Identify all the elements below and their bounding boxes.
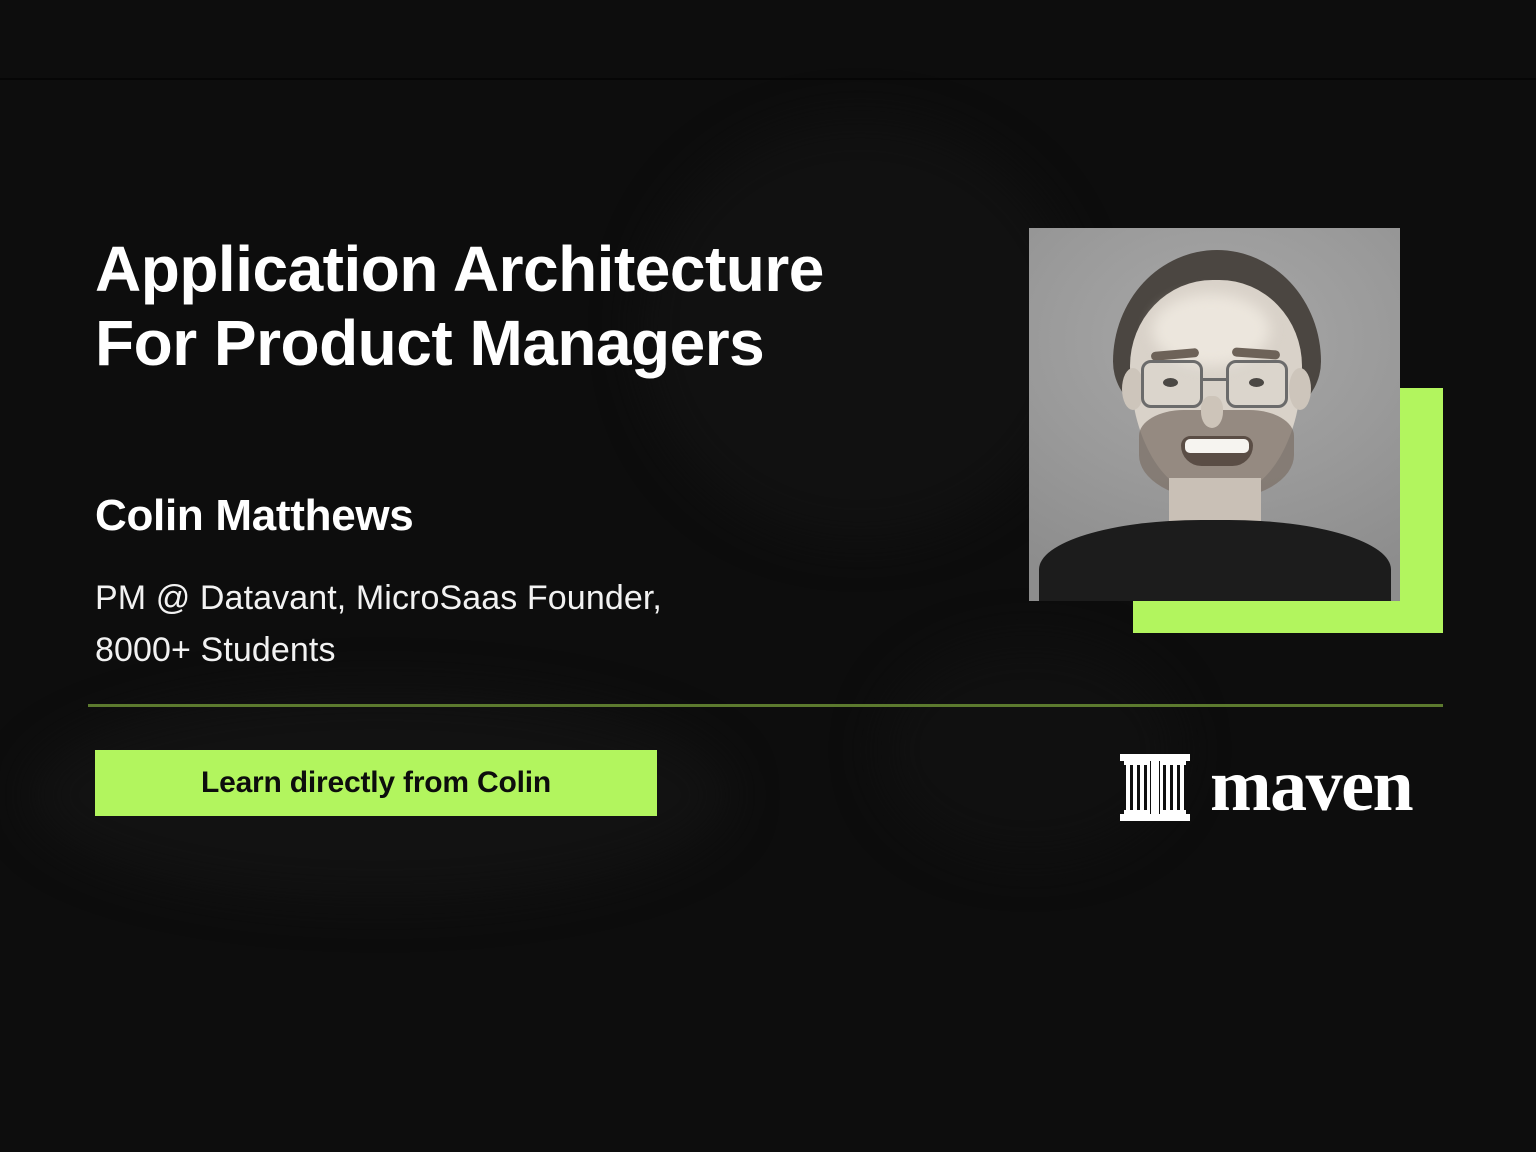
instructor-role-line-2: 8000+ Students [95,624,855,676]
learn-from-instructor-button[interactable]: Learn directly from Colin [95,750,657,816]
photo-eyeglass-left [1141,360,1203,408]
instructor-photo [1029,228,1400,601]
instructor-role-line-1: PM @ Datavant, MicroSaas Founder, [95,572,855,624]
course-promo-slide: Application Architecture For Product Man… [0,0,1536,1152]
instructor-role: PM @ Datavant, MicroSaas Founder, 8000+ … [95,572,855,676]
title-line-1: Application Architecture [95,232,1015,306]
page-title: Application Architecture For Product Man… [95,232,1015,380]
photo-eyeglass-right [1226,360,1288,408]
instructor-name: Colin Matthews [95,491,413,541]
top-separator-line [0,78,1536,80]
photo-eyeglass-bridge [1203,378,1226,381]
title-line-2: For Product Managers [95,306,1015,380]
photo-mouth [1181,436,1253,466]
photo-shirt [1039,520,1391,601]
photo-teeth [1185,439,1249,453]
section-divider [88,704,1443,707]
maven-logo[interactable]: maven [1118,748,1412,824]
photo-nose [1201,396,1223,428]
maven-wordmark: maven [1210,749,1412,823]
photo-ear-right [1289,368,1311,410]
temple-columns-icon [1118,748,1192,824]
